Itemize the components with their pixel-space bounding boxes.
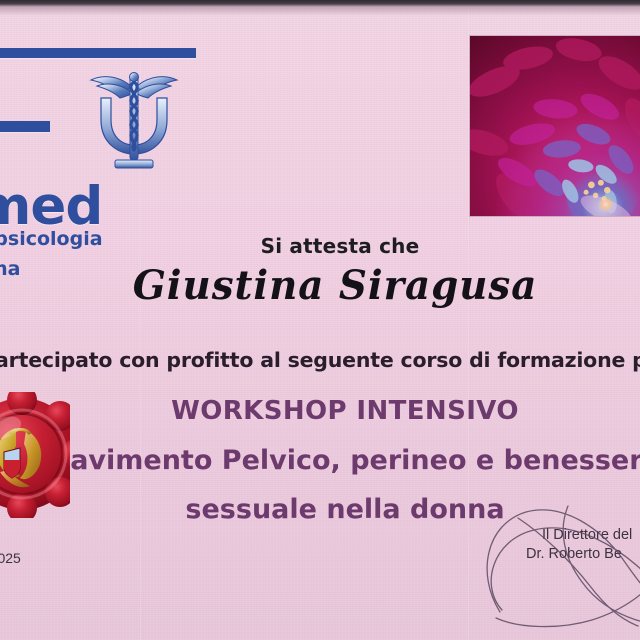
caduceus-psi-icon [79, 62, 189, 174]
recipient-name: Giustina Siragusa [10, 262, 640, 309]
signature-role: Il Direttore del [542, 527, 640, 543]
attestation-text: Si attesta che [0, 234, 640, 258]
signature-block: Il Direttore del Dr. Roberto Be [470, 527, 640, 562]
scan-edge-top [0, 0, 640, 7]
participation-statement: a partecipato con profitto al seguente c… [0, 348, 640, 372]
logo-bar-short [0, 121, 50, 132]
wax-seal [0, 392, 70, 518]
flower-artwork [470, 36, 640, 216]
course-kicker: WORKSHOP INTENSIVO [0, 396, 640, 426]
scan-edge-shadow [0, 7, 640, 16]
fractal-flower-image [470, 36, 640, 216]
signature-name: Dr. Roberto Be [526, 546, 640, 562]
certificate-page: p&med zione in psicologia e medicina [0, 0, 640, 640]
issue-date: 9/2025 [0, 550, 21, 566]
course-title-line-2: sessuale nella donna [0, 494, 640, 525]
course-title-line-1: Pavimento Pelvico, perineo e benessere [0, 445, 640, 476]
logo-bar-long [0, 48, 196, 58]
